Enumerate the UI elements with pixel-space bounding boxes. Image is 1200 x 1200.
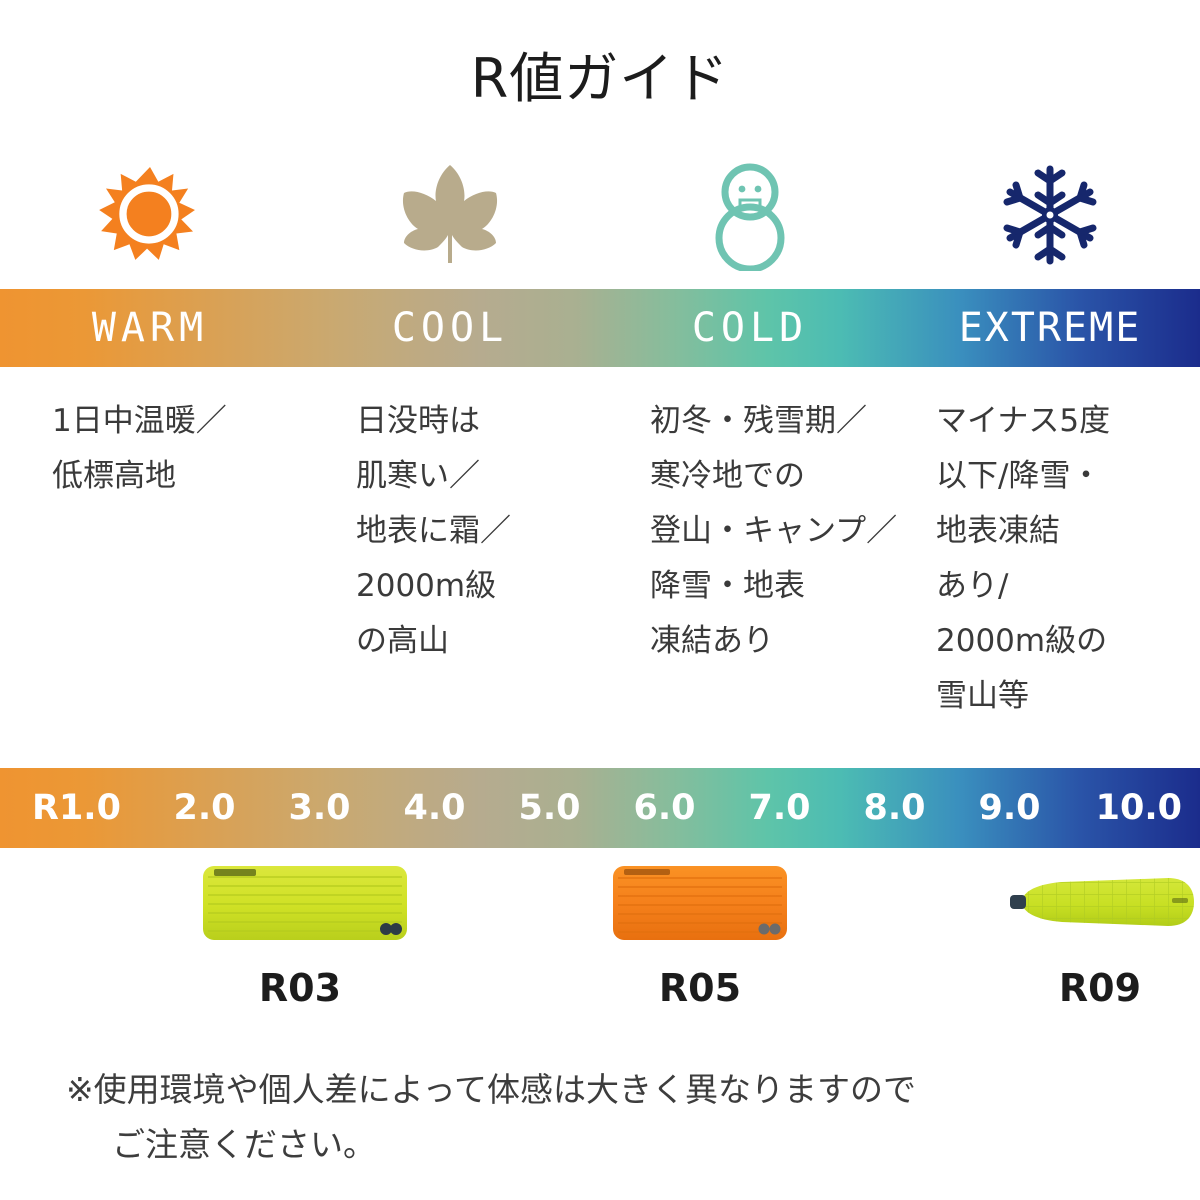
r-value-guide-page: R値ガイド — [0, 0, 1200, 1200]
footnote-line-2: ご注意ください。 — [0, 1117, 1200, 1172]
product-row: R03 — [0, 858, 1200, 1028]
product-label-r05: R05 — [600, 966, 800, 1010]
leaf-icon — [394, 163, 506, 267]
description-extreme: マイナス5度 以下/降雪・ 地表凍結 あり/ 2000m級の 雪山等 — [914, 394, 1200, 734]
footnote: ※使用環境や個人差によって体感は大きく異なりますので ご注意ください。 — [0, 1062, 1200, 1172]
description-line: 日没時は — [356, 394, 612, 449]
description-line: の高山 — [356, 614, 612, 669]
product-label-r03: R03 — [200, 966, 400, 1010]
r-value-scale-band: R1.0 2.0 3.0 4.0 5.0 6.0 7.0 8.0 9.0 10.… — [0, 768, 1200, 848]
icon-cell-extreme — [900, 145, 1200, 285]
sleeping-pad-horizontal-image — [200, 858, 400, 968]
page-title: R値ガイド — [0, 34, 1200, 113]
scale-tick: R1.0 — [0, 788, 147, 828]
scale-tick: 2.0 — [147, 788, 262, 828]
description-line: 降雪・地表 — [650, 559, 906, 614]
product-r05[interactable]: R05 — [600, 858, 800, 1028]
scale-tick: 10.0 — [1067, 788, 1200, 828]
scale-tick: 5.0 — [492, 788, 607, 828]
description-line: 初冬・残雪期／ — [650, 394, 906, 449]
category-gradient-band: WARM COOL COLD EXTREME — [0, 289, 1200, 367]
product-r09[interactable]: R09 — [1000, 858, 1200, 1028]
icon-cell-cool — [300, 145, 600, 285]
product-slot-empty-2 — [400, 858, 600, 1028]
description-line: 1日中温暖／ — [52, 394, 308, 449]
category-label-warm: WARM — [0, 289, 300, 367]
category-label-cool: COOL — [300, 289, 600, 367]
description-line: 寒冷地での — [650, 449, 906, 504]
footnote-line-1: ※使用環境や個人差によって体感は大きく異なりますので — [0, 1062, 1200, 1117]
description-line: 以下/降雪・ — [936, 449, 1192, 504]
description-line: 2000m級の — [936, 614, 1192, 669]
product-label-r09: R09 — [1000, 966, 1200, 1010]
description-line: マイナス5度 — [936, 394, 1192, 449]
snowflake-icon — [1000, 163, 1100, 267]
scale-tick: 3.0 — [262, 788, 377, 828]
description-line: 登山・キャンプ／ — [650, 504, 906, 559]
description-line: 凍結あり — [650, 614, 906, 669]
description-line: 低標高地 — [52, 449, 308, 504]
description-line: 雪山等 — [936, 669, 1192, 724]
scale-tick: 8.0 — [837, 788, 952, 828]
scale-tick: 7.0 — [722, 788, 837, 828]
scale-tick: 9.0 — [952, 788, 1067, 828]
description-cool: 日没時は 肌寒い／ 地表に霜／ 2000m級 の高山 — [316, 394, 620, 734]
category-label-extreme: EXTREME — [900, 289, 1200, 367]
icon-row — [0, 145, 1200, 285]
description-cold: 初冬・残雪期／ 寒冷地での 登山・キャンプ／ 降雪・地表 凍結あり — [620, 394, 914, 734]
description-warm: 1日中温暖／ 低標高地 — [0, 394, 316, 734]
description-line: 地表に霜／ — [356, 504, 612, 559]
category-label-cold: COLD — [600, 289, 900, 367]
description-row: 1日中温暖／ 低標高地 日没時は 肌寒い／ 地表に霜／ 2000m級 の高山 初… — [0, 394, 1200, 734]
icon-cell-warm — [0, 145, 300, 285]
scale-tick: 4.0 — [377, 788, 492, 828]
description-line: 地表凍結 — [936, 504, 1192, 559]
sleeping-pad-vertical-image — [600, 858, 800, 968]
product-slot-empty-1 — [0, 858, 200, 1028]
product-r03[interactable]: R03 — [200, 858, 400, 1028]
sleeping-pad-mummy-image — [1000, 858, 1200, 968]
icon-cell-cold — [600, 145, 900, 285]
product-slot-empty-3 — [800, 858, 1000, 1028]
sun-icon — [98, 163, 202, 267]
description-line: あり/ — [936, 559, 1192, 614]
description-line: 肌寒い／ — [356, 449, 612, 504]
description-line: 2000m級 — [356, 559, 612, 614]
snowman-icon — [707, 159, 793, 271]
scale-tick: 6.0 — [607, 788, 722, 828]
